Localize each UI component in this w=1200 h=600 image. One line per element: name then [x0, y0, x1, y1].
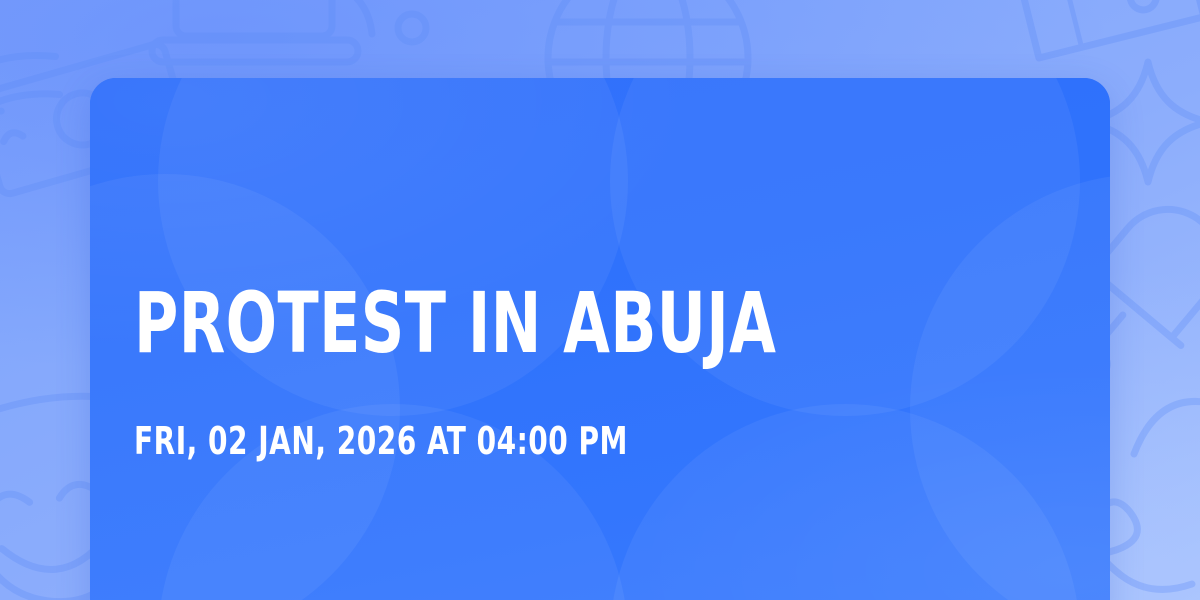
small-circle-icon	[398, 14, 426, 42]
event-datetime: Fri, 02 Jan, 2026 at 04:00 PM	[134, 419, 628, 463]
swirl-line-icon	[1134, 401, 1200, 454]
laptop-icon	[152, 0, 372, 62]
event-title: Protest in Abuja	[134, 278, 776, 368]
event-share-card-canvas: Protest in Abuja Fri, 02 Jan, 2026 at 04…	[0, 0, 1200, 600]
card-content: Protest in Abuja Fri, 02 Jan, 2026 at 04…	[134, 78, 1066, 600]
event-card[interactable]: Protest in Abuja Fri, 02 Jan, 2026 at 04…	[90, 78, 1110, 600]
ticket-icon	[1013, 0, 1200, 58]
